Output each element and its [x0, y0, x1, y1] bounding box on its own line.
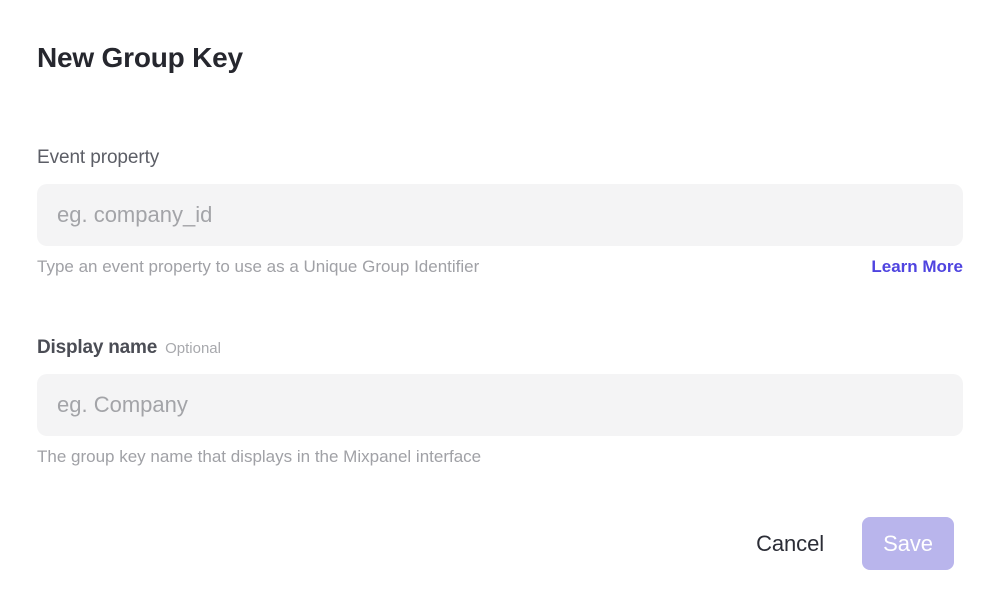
- save-button[interactable]: Save: [862, 517, 954, 570]
- field-event-property: Event property Type an event property to…: [37, 146, 963, 278]
- field-optional-tag-display-name: Optional: [165, 338, 221, 360]
- dialog-footer: Cancel Save: [756, 517, 954, 570]
- page-title: New Group Key: [37, 41, 243, 75]
- field-label-row-event-property: Event property: [37, 146, 963, 170]
- field-hint-row-event-property: Type an event property to use as a Uniqu…: [37, 256, 963, 278]
- cancel-button[interactable]: Cancel: [756, 517, 824, 570]
- field-hint-row-display-name: The group key name that displays in the …: [37, 446, 963, 468]
- field-label-row-display-name: Display name Optional: [37, 336, 963, 360]
- field-hint-event-property: Type an event property to use as a Uniqu…: [37, 256, 479, 278]
- field-hint-display-name: The group key name that displays in the …: [37, 446, 481, 468]
- field-label-display-name: Display name: [37, 336, 157, 360]
- learn-more-link[interactable]: Learn More: [871, 256, 963, 278]
- event-property-input[interactable]: [37, 184, 963, 246]
- field-display-name: Display name Optional The group key name…: [37, 336, 963, 468]
- display-name-input[interactable]: [37, 374, 963, 436]
- new-group-key-dialog: New Group Key Event property Type an eve…: [0, 0, 1000, 608]
- field-label-event-property: Event property: [37, 146, 159, 170]
